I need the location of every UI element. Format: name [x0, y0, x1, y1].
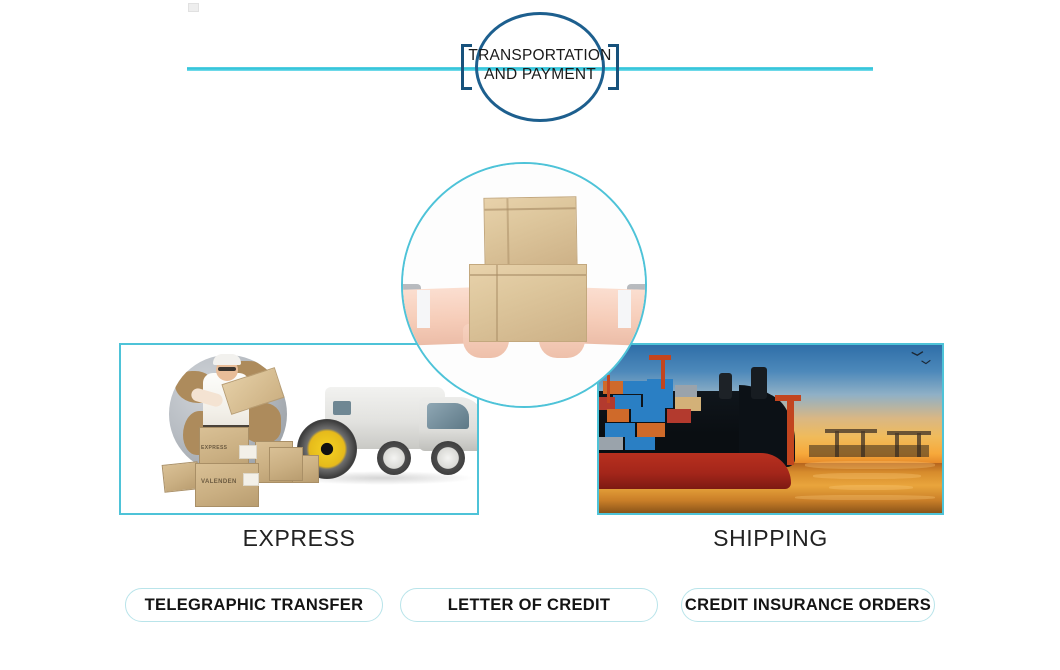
cardboard-box-bottom: [469, 264, 587, 342]
parcel-text-upper: EXPRESS: [201, 445, 227, 451]
van-rear-window: [333, 401, 351, 415]
handover-illustration: [403, 164, 645, 406]
bird-icon: [911, 351, 925, 358]
transportation-and-payment-page: TRANSPORTATION AND PAYMENT: [0, 0, 1060, 670]
ship-funnel: [751, 367, 767, 399]
shipping-image-frame: [597, 343, 944, 515]
dock-crane-red: [787, 397, 794, 465]
shipping-caption: SHIPPING: [597, 525, 944, 552]
parcel-label-lower: [243, 473, 259, 486]
payment-method-credit-insurance-orders[interactable]: CREDIT INSURANCE ORDERS: [681, 588, 935, 622]
van-windshield: [427, 403, 469, 429]
parcel-text-lower: VALENDEN: [201, 479, 237, 485]
cuff-right: [618, 290, 631, 328]
ship-crane-mast: [661, 355, 665, 389]
dock-crane-red-arm: [775, 395, 801, 401]
page-title-line2: AND PAYMENT: [452, 65, 628, 84]
payment-method-letter-of-credit[interactable]: LETTER OF CREDIT: [400, 588, 658, 622]
cardboard-box-top: [483, 196, 577, 268]
page-title-line1: TRANSPORTATION: [452, 46, 628, 65]
van-wheel-rear: [377, 441, 411, 475]
cargo-ship-red-waterline: [597, 453, 791, 489]
bird-icon-2: [921, 359, 932, 366]
ship-funnel-secondary: [719, 373, 732, 399]
header-badge: TRANSPORTATION AND PAYMENT: [452, 8, 628, 122]
cuff-left: [417, 290, 430, 328]
van-wheel-front: [431, 441, 465, 475]
ship-crane-arm: [649, 355, 671, 360]
express-caption: EXPRESS: [119, 525, 479, 552]
page-title: TRANSPORTATION AND PAYMENT: [452, 46, 628, 84]
courier-cap: [213, 354, 241, 365]
image-artifact: [188, 3, 199, 12]
payment-method-telegraphic-transfer[interactable]: TELEGRAPHIC TRANSFER: [125, 588, 383, 622]
parcel-label-upper: [239, 445, 257, 459]
center-circle-photo: [401, 162, 647, 408]
courier-sunglasses-icon: [218, 367, 236, 371]
parcel-box-right-front: [269, 447, 303, 481]
